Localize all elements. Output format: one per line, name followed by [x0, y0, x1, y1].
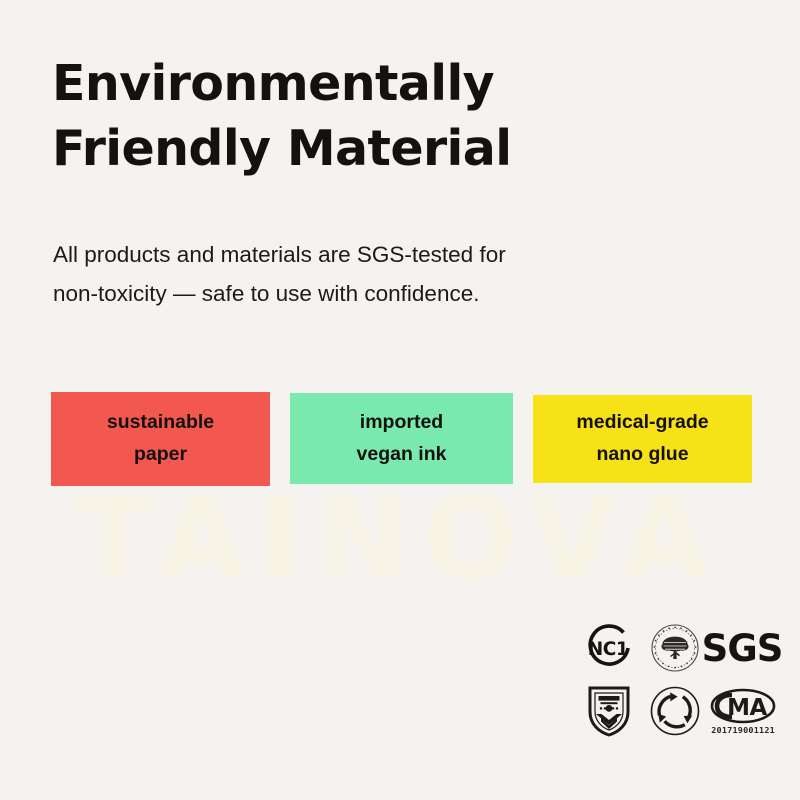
sgs-certification-logo: SGS: [708, 619, 778, 677]
material-badge-imported-vegan-ink-line-1: imported: [360, 407, 443, 439]
material-badge-sustainable-paper-line-1: sustainable: [107, 407, 214, 439]
material-badge-imported-vegan-ink: imported vegan ink: [290, 393, 513, 484]
sgs-certification-label: SGS: [702, 630, 783, 667]
page-title-line-1: Environmentally: [52, 52, 692, 117]
material-badge-medical-grade-nano-glue-line-2: nano glue: [596, 439, 688, 471]
material-badge-medical-grade-nano-glue: medical-grade nano glue: [533, 395, 752, 483]
material-badge-sustainable-paper-line-2: paper: [134, 439, 187, 471]
poster-canvas: TAINOVA Environmentally Friendly Materia…: [0, 0, 800, 800]
page-title: Environmentally Friendly Material: [52, 52, 692, 181]
recycling-certification-logo: [644, 682, 706, 740]
shield-certification-logo: [578, 682, 640, 740]
cma-certificate-number: 201719001121: [711, 727, 775, 735]
forest-seal-certification-logo: [644, 619, 706, 677]
svg-text:NC1: NC1: [588, 639, 628, 660]
cma-certification-logo: MA 201719001121: [708, 682, 778, 740]
nc1-certification-logo: NC1: [578, 619, 640, 677]
cma-certification-label: MA: [727, 695, 767, 721]
page-subtitle-line-1: All products and materials are SGS-teste…: [53, 236, 673, 275]
certification-logo-grid: NC1: [578, 619, 778, 745]
page-subtitle: All products and materials are SGS-teste…: [53, 236, 673, 313]
page-title-line-2: Friendly Material: [52, 117, 692, 182]
material-badge-medical-grade-nano-glue-line-1: medical-grade: [576, 407, 708, 439]
material-badge-sustainable-paper: sustainable paper: [51, 392, 270, 486]
material-badge-row: sustainable paper imported vegan ink med…: [51, 391, 761, 501]
material-badge-imported-vegan-ink-line-2: vegan ink: [357, 439, 447, 471]
page-subtitle-line-2: non-toxicity — safe to use with confiden…: [53, 275, 673, 314]
